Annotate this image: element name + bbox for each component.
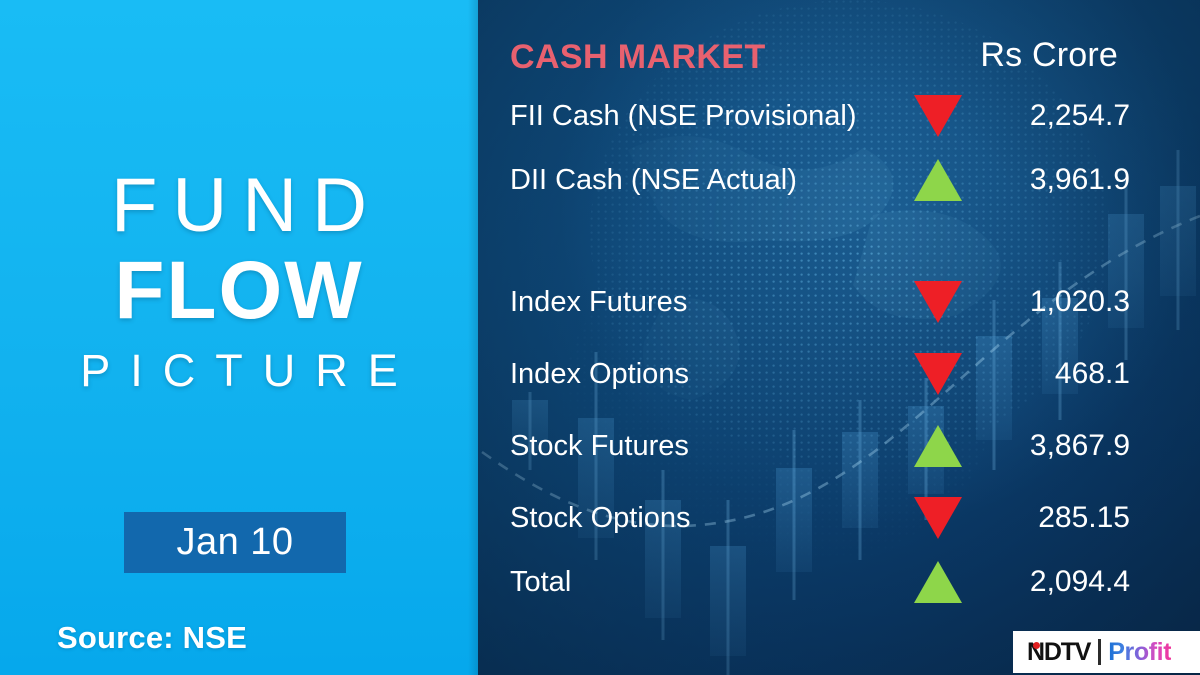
fund-flow-picture-graphic: FUND FLOW PICTURE Jan 10 Source: NSE: [0, 0, 1200, 675]
table-row: Stock Options 285.15: [478, 496, 1200, 540]
unit-label: Rs Crore: [980, 36, 1118, 75]
row-label: Stock Futures: [510, 424, 689, 468]
row-value: 3,867.9: [1030, 424, 1130, 468]
row-value: 3,961.9: [1030, 158, 1130, 202]
table-row: Index Options 468.1: [478, 352, 1200, 396]
table-row: Index Futures 1,020.3: [478, 280, 1200, 324]
brand-title-line-picture: PICTURE: [0, 348, 478, 393]
row-value: 2,254.7: [1030, 94, 1130, 138]
row-label: Index Options: [510, 352, 689, 396]
row-label: DII Cash (NSE Actual): [510, 158, 797, 202]
logo-profit-text: Profit: [1108, 638, 1171, 667]
row-value: 468.1: [1055, 352, 1130, 396]
row-label: Index Futures: [510, 280, 687, 324]
table-row: Stock Futures 3,867.9: [478, 424, 1200, 468]
row-label: Total: [510, 560, 571, 604]
table-row: DII Cash (NSE Actual) 3,961.9: [478, 158, 1200, 202]
trend-up-icon: [914, 425, 962, 467]
row-label: FII Cash (NSE Provisional): [510, 94, 857, 138]
ndtv-profit-logo: NDTV Profit: [1013, 631, 1200, 673]
trend-down-icon: [914, 281, 962, 323]
source-attribution: Source: NSE: [57, 620, 247, 656]
trend-down-icon: [914, 353, 962, 395]
row-value: 1,020.3: [1030, 280, 1130, 324]
date-badge: Jan 10: [124, 512, 346, 573]
section-title: CASH MARKET: [510, 38, 766, 77]
row-value: 2,094.4: [1030, 560, 1130, 604]
brand-title: FUND FLOW PICTURE: [0, 168, 478, 393]
row-label: Stock Options: [510, 496, 691, 540]
logo-separator-icon: [1098, 639, 1101, 665]
trend-down-icon: [914, 497, 962, 539]
logo-red-dot-icon: [1033, 642, 1040, 649]
table-row: Total 2,094.4: [478, 560, 1200, 604]
trend-down-icon: [914, 95, 962, 137]
brand-title-line-flow: FLOW: [0, 250, 478, 332]
branding-panel: FUND FLOW PICTURE Jan 10 Source: NSE: [0, 0, 478, 675]
row-value: 285.15: [1038, 496, 1130, 540]
date-badge-label: Jan 10: [176, 521, 293, 564]
brand-title-line-fund: FUND: [0, 168, 478, 244]
trend-up-icon: [914, 159, 962, 201]
table-row: FII Cash (NSE Provisional) 2,254.7: [478, 94, 1200, 138]
trend-up-icon: [914, 561, 962, 603]
